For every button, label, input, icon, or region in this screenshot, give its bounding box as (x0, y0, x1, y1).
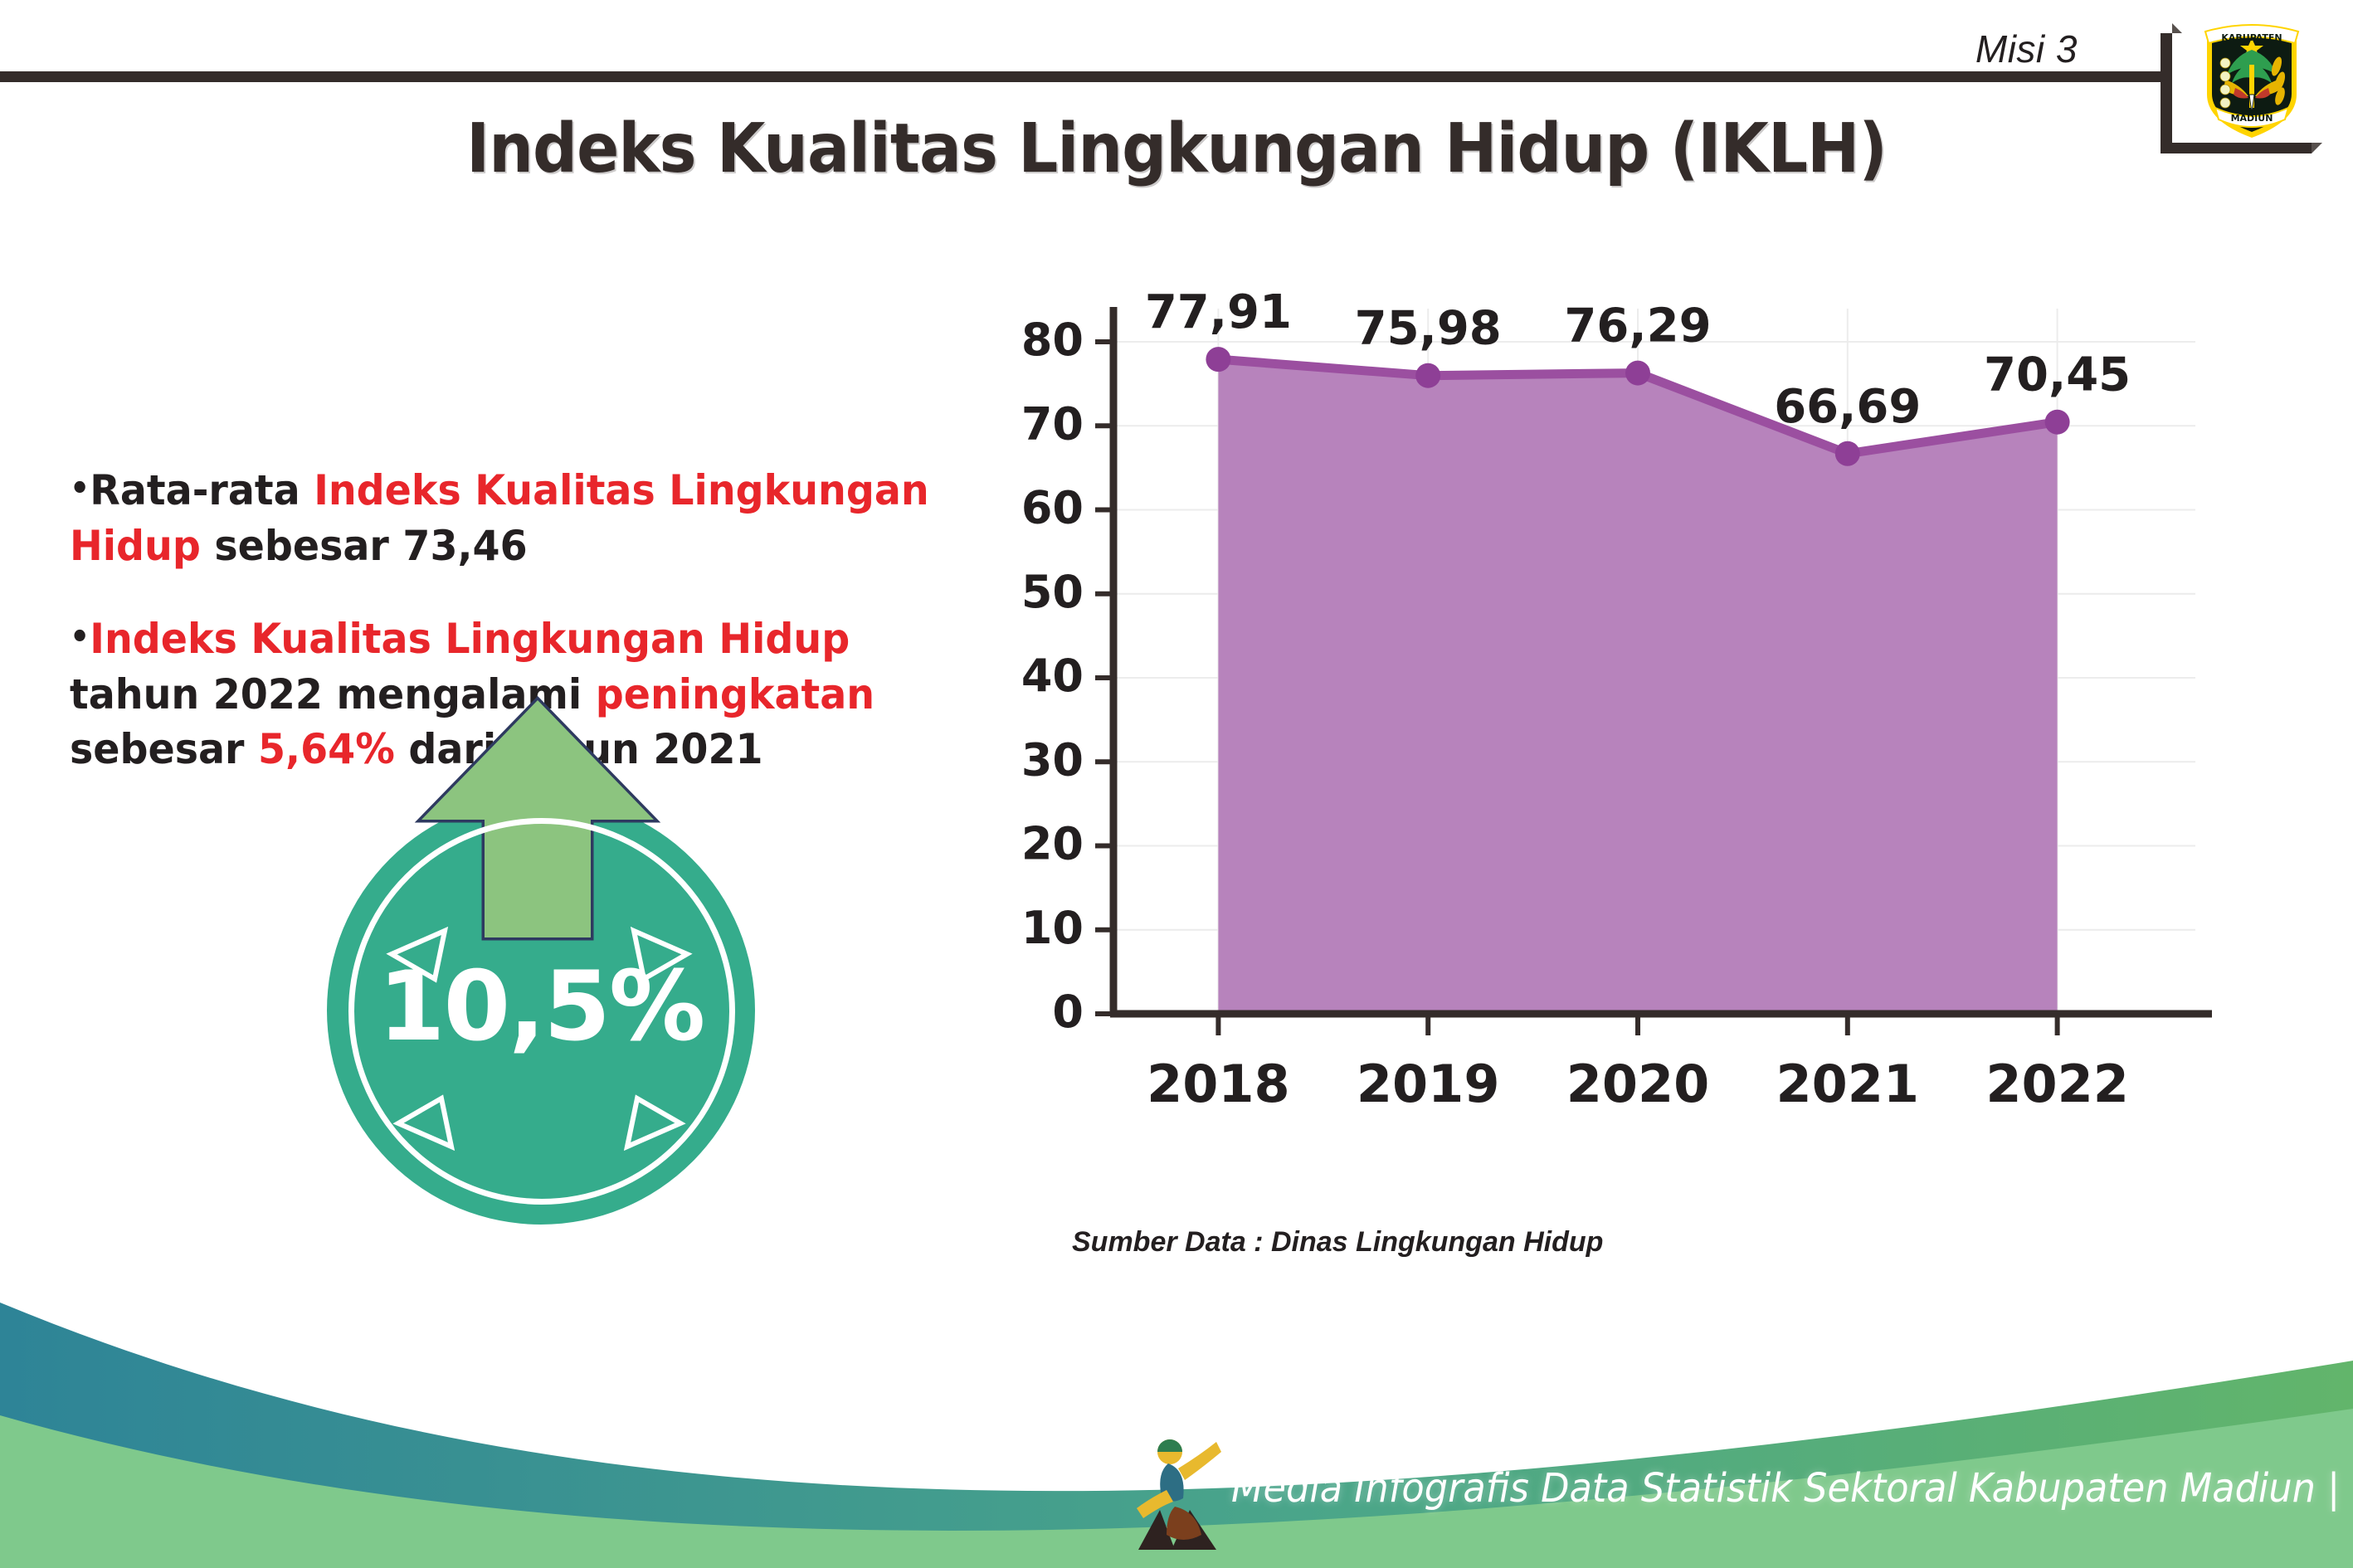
footer-text: Media Infografis Data Statistik Sektoral… (1231, 1465, 2340, 1512)
bullet-2-part-3: sebesar (70, 725, 258, 773)
crest-top-label: KABUPATEN (2221, 32, 2282, 43)
page-title: Indeks Kualitas Lingkungan Hidup (IKLH) (94, 110, 2258, 188)
chart-y-tick-label: 0 (1052, 986, 1084, 1038)
chart-y-tick-label: 50 (1021, 566, 1084, 618)
iklh-area-chart: 010203040506070802018201920202021202277,… (987, 292, 2248, 1171)
bullet-2-part-4: 5,64% (258, 725, 395, 773)
media-infografis-logo-icon (1135, 1435, 1226, 1551)
chart-y-tick-label: 60 (1021, 482, 1084, 534)
bullet-1-part-0: Rata-rata (90, 466, 314, 514)
chart-y-tick-label: 40 (1021, 650, 1084, 702)
bullet-1-part-2: sebesar 73,46 (201, 522, 528, 570)
chart-data-label: 76,29 (1564, 299, 1711, 353)
chart-source-note: Sumber Data : Dinas Lingkungan Hidup (1072, 1226, 1603, 1259)
chart-data-label: 77,91 (1145, 292, 1292, 339)
chart-data-label: 66,69 (1774, 380, 1921, 434)
chart-data-label: 70,45 (1984, 348, 2131, 402)
bullet-item-average: •Rata-rata Indeks Kualitas Lingkungan Hi… (70, 463, 945, 573)
chart-y-tick-label: 80 (1021, 314, 1084, 366)
misi-label: Misi 3 (1975, 27, 2078, 71)
chart-data-point (2045, 410, 2070, 435)
chart-data-point (1625, 361, 1650, 386)
chart-x-tick-label: 2021 (1776, 1054, 1920, 1114)
chart-data-point (1835, 441, 1860, 466)
increase-badge: 10,5% (327, 796, 755, 1225)
badge-arrow-triangle-bottom-right-icon (621, 1092, 687, 1152)
bullet-dot-icon: • (70, 470, 90, 508)
badge-value: 10,5% (327, 951, 755, 1063)
bullet-2-part-0: Indeks Kualitas Lingkungan Hidup (90, 615, 850, 663)
infographic-page: Misi 3 KABUPATEN MADIUN Indeks Kualita (0, 0, 2353, 1568)
chart-x-tick-label: 2019 (1357, 1054, 1500, 1114)
chart-data-point (1206, 347, 1230, 372)
chart-x-tick-label: 2022 (1985, 1054, 2129, 1114)
chart-data-label: 75,98 (1355, 302, 1502, 356)
chart-y-tick-label: 70 (1021, 397, 1084, 450)
chart-y-tick-label: 30 (1021, 733, 1084, 786)
chart-x-tick-label: 2020 (1566, 1054, 1710, 1114)
chart-y-tick-label: 10 (1021, 902, 1084, 954)
chart-data-point (1415, 363, 1440, 388)
chart-x-tick-label: 2018 (1147, 1054, 1290, 1114)
bullet-dot-icon: • (70, 618, 90, 656)
chart-area-fill (1218, 359, 2057, 1014)
header-rule (0, 71, 2170, 82)
chart-y-tick-label: 20 (1021, 818, 1084, 870)
badge-arrow-triangle-bottom-left-icon (392, 1092, 458, 1152)
